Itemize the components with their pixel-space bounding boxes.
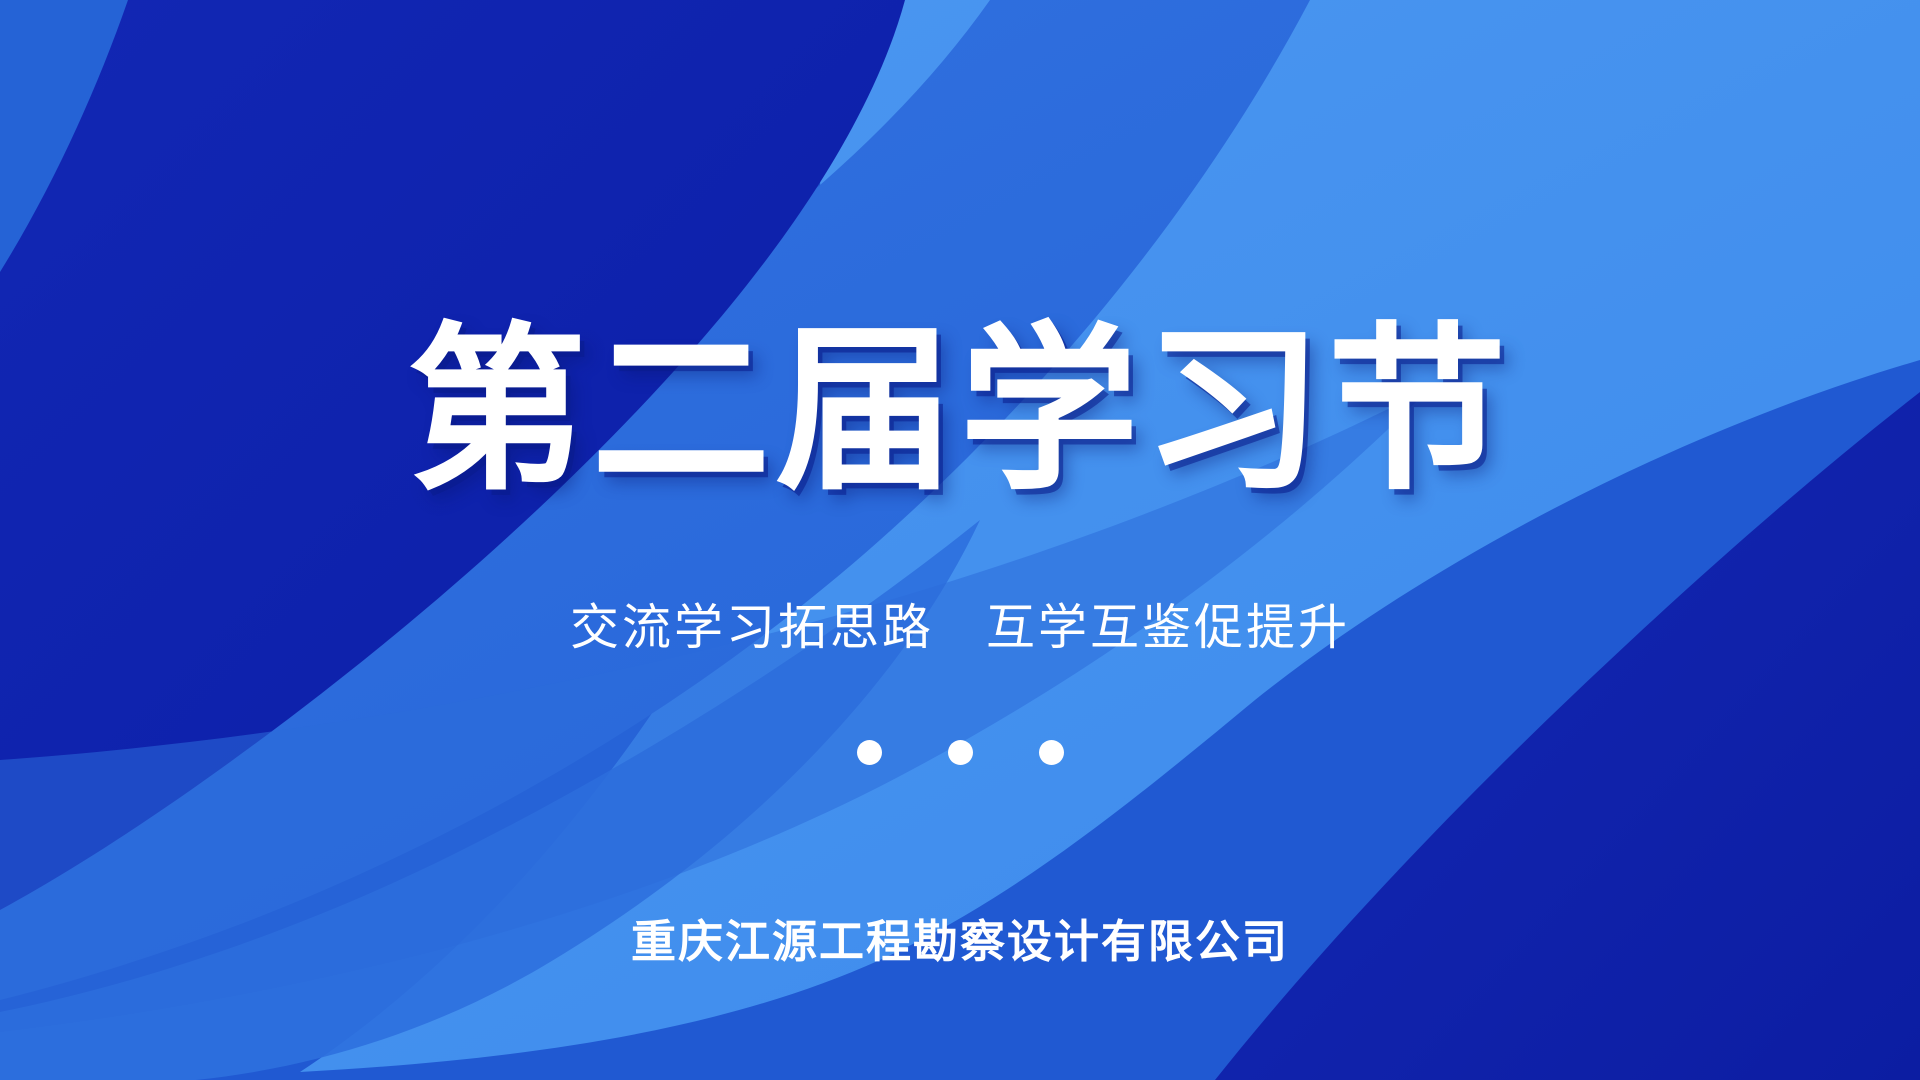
main-title: 第二届学习节 [0,322,1920,500]
divider-dot-2 [948,740,973,765]
divider-dot-3 [1039,740,1064,765]
company-block: 重庆江源工程勘察设计有限公司 [0,915,1920,969]
poster-content: 第二届学习节 交流学习拓思路 互学互鉴促提升 重庆江源工程勘察设计有限公司 [0,0,1920,1080]
poster-canvas: 第二届学习节 交流学习拓思路 互学互鉴促提升 重庆江源工程勘察设计有限公司 [0,0,1920,1080]
subtitle: 交流学习拓思路 互学互鉴促提升 [0,598,1920,659]
title-block: 第二届学习节 [0,322,1920,500]
divider-dot-1 [857,740,882,765]
dots-divider [0,740,1920,765]
company-name: 重庆江源工程勘察设计有限公司 [0,915,1920,969]
subtitle-block: 交流学习拓思路 互学互鉴促提升 [0,598,1920,659]
